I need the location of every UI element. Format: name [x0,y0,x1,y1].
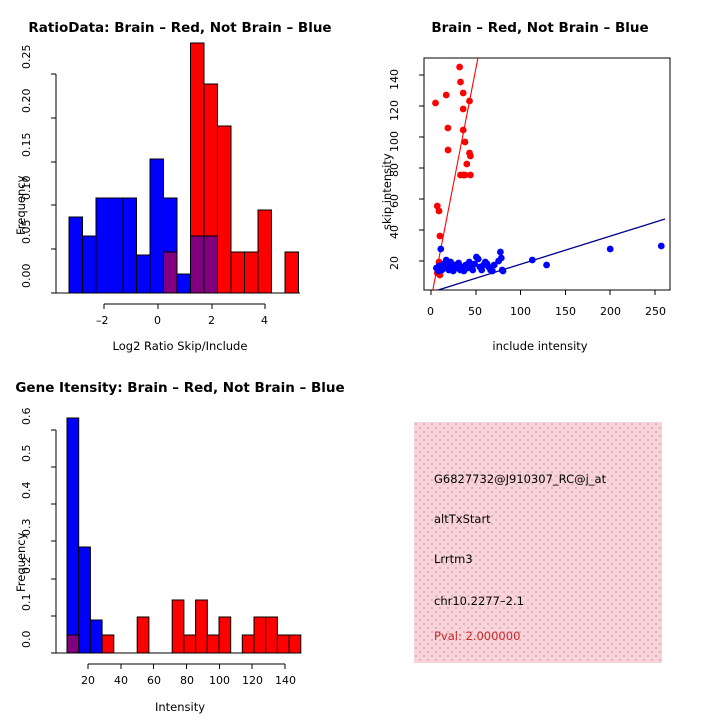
ratio-histogram-panel: RatioData: Brain – Red, Not Brain – Blue… [0,0,360,360]
ratio-xtick-1: 0 [154,314,161,327]
scatter-ytick-5: 120 [388,100,401,121]
gene-ytick-5: 0.5 [20,445,33,463]
gene-symbol-text: Lrrtm3 [434,552,473,566]
pval-text: Pval: 2.000000 [434,629,520,643]
gene-ytick-1: 0.1 [20,594,33,612]
not-brain-points [433,243,665,275]
gene-ytick-0: 0.0 [20,631,33,649]
ratio-xtick-3: 4 [261,314,268,327]
gene-ytick-3: 0.3 [20,519,33,537]
ratio-ytick-0: 0.00 [20,264,33,289]
scatter-xtick-4: 200 [600,305,621,318]
annotation-panel: G6827732@J910307_RC@j_at altTxStart Lrrt… [414,422,662,663]
gene-ytick-6: 0.6 [20,408,33,426]
event-type-text: altTxStart [434,512,491,526]
ratio-ytick-2: 0.10 [20,176,33,201]
scatter-ytick-0: 20 [388,256,401,270]
gene-xtick-3: 80 [180,674,194,687]
gene-xtick-5: 120 [242,674,263,687]
gene-histogram-canvas [0,360,360,720]
scatter-xtick-3: 150 [555,305,576,318]
gene-ytick-4: 0.4 [20,482,33,500]
brain-points [432,64,474,279]
ratio-histogram-canvas [0,0,360,360]
gene-ytick-2: 0.2 [20,557,33,575]
ratio-ytick-3: 0.15 [20,133,33,158]
scatter-ytick-3: 80 [388,163,401,177]
scatter-xtick-0: 0 [427,305,434,318]
gene-xtick-4: 100 [209,674,230,687]
gene-xtick-2: 60 [147,674,161,687]
gene-xtick-0: 20 [81,674,95,687]
ratio-ytick-5: 0.25 [20,45,33,70]
intensity-scatter-panel: Brain – Red, Not Brain – Blue skip inten… [360,0,720,360]
scatter-ytick-1: 40 [388,225,401,239]
ratio-xtick-0: –2 [96,314,109,327]
gene-xtick-6: 140 [275,674,296,687]
scatter-ytick-6: 140 [388,69,401,90]
ratio-ytick-1: 0.05 [20,220,33,245]
ratio-xtick-2: 2 [208,314,215,327]
scatter-xtick-5: 250 [645,305,666,318]
scatter-ytick-2: 60 [388,194,401,208]
scatter-canvas [360,0,720,360]
probe-id-text: G6827732@J910307_RC@j_at [434,472,606,486]
ratio-ytick-4: 0.20 [20,89,33,114]
locus-text: chr10.2277–2.1 [434,594,524,608]
gene-xtick-1: 40 [114,674,128,687]
scatter-xtick-2: 100 [510,305,531,318]
not-brain-fit-line [438,219,665,290]
gene-intensity-histogram-panel: Gene Itensity: Brain – Red, Not Brain – … [0,360,360,720]
scatter-ytick-4: 100 [388,131,401,152]
scatter-xtick-1: 50 [468,305,482,318]
